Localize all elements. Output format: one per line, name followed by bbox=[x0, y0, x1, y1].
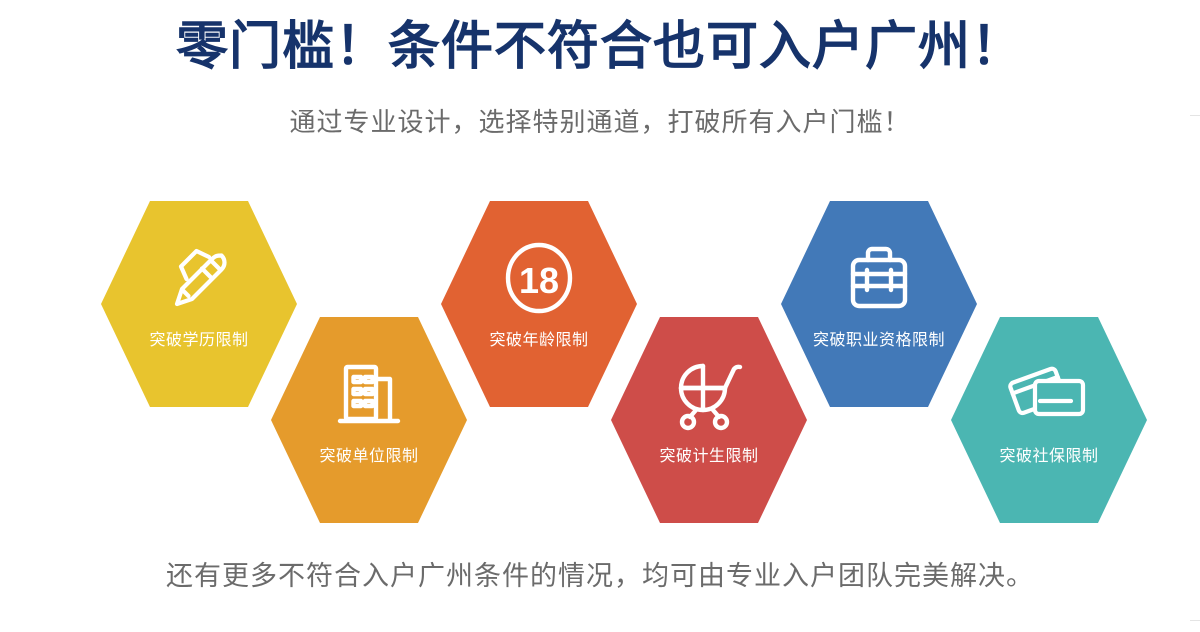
promo-banner: 零门槛！条件不符合也可入户广州！ 通过专业设计，选择特别通道，打破所有入户门槛！… bbox=[0, 0, 1200, 632]
page-title: 零门槛！条件不符合也可入户广州！ bbox=[0, 16, 1200, 78]
hexagon-tile-employer[interactable]: 突破单位限制 bbox=[271, 317, 467, 523]
edge-divider-top bbox=[1190, 115, 1200, 116]
hexagon-label: 突破社保限制 bbox=[999, 447, 1098, 467]
hexagon-label: 突破年龄限制 bbox=[489, 331, 588, 351]
age-number: 18 bbox=[519, 260, 559, 301]
briefcase-icon bbox=[836, 235, 922, 321]
hexagon-label: 突破计生限制 bbox=[659, 447, 758, 467]
footer-note: 还有更多不符合入户广州条件的情况，均可由专业入户团队完美解决。 bbox=[0, 558, 1200, 594]
hexagon-label: 突破学历限制 bbox=[149, 331, 248, 351]
building-icon bbox=[326, 351, 412, 437]
hexagon-tile-age[interactable]: 18 突破年龄限制 bbox=[441, 201, 637, 407]
hexagon-tile-family-planning[interactable]: 突破计生限制 bbox=[611, 317, 807, 523]
hexagon-label: 突破职业资格限制 bbox=[813, 331, 945, 351]
stroller-icon bbox=[666, 351, 752, 437]
pen-icon bbox=[156, 235, 242, 321]
age-18-circle-icon: 18 bbox=[496, 235, 582, 321]
hexagon-tile-social-insurance[interactable]: 突破社保限制 bbox=[951, 317, 1147, 523]
hexagon-tile-occupation[interactable]: 突破职业资格限制 bbox=[781, 201, 977, 407]
hexagon-label: 突破单位限制 bbox=[319, 447, 418, 467]
edge-divider-bottom bbox=[1190, 620, 1200, 621]
page-subtitle: 通过专业设计，选择特别通道，打破所有入户门槛！ bbox=[0, 105, 1200, 139]
hexagon-feature-grid: 突破学历限制 突破单位限制 bbox=[0, 190, 1200, 520]
hexagon-tile-education[interactable]: 突破学历限制 bbox=[101, 201, 297, 407]
cards-icon bbox=[1006, 351, 1092, 437]
